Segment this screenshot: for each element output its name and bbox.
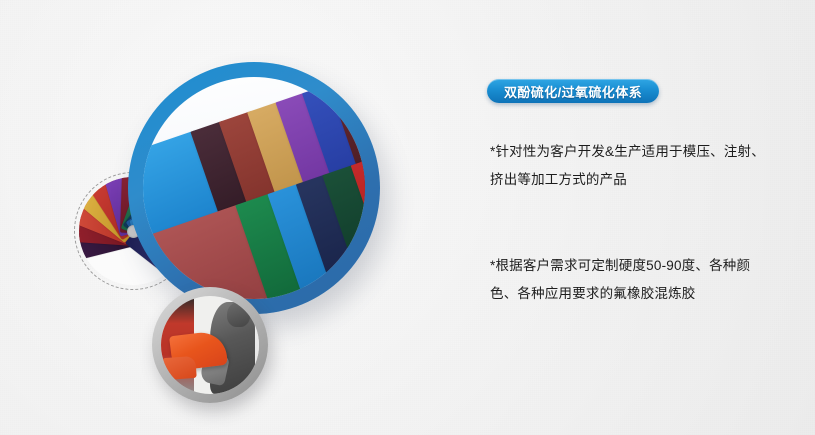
worker-head xyxy=(227,302,251,327)
paragraph-hardness: *根据客户需求可定制硬度50-90度、各种颜色、各种应用要求的氟橡胶混炼胶 xyxy=(490,252,776,308)
rubber-sheets-photo xyxy=(143,77,365,299)
paragraph-development: *针对性为客户开发&生产适用于模压、注射、挤出等加工方式的产品 xyxy=(490,138,776,194)
orange-rubber-sheet-secondary xyxy=(162,356,197,380)
worker-handling-rubber-photo xyxy=(161,296,259,394)
text-panel: 双酚硫化/过氧硫化体系 *针对性为客户开发&生产适用于模压、注射、挤出等加工方式… xyxy=(487,0,787,435)
main-product-circle xyxy=(128,62,380,314)
worker-circle xyxy=(152,287,268,403)
section-title-badge: 双酚硫化/过氧硫化体系 xyxy=(487,79,659,103)
promo-banner: 双酚硫化/过氧硫化体系 *针对性为客户开发&生产适用于模压、注射、挤出等加工方式… xyxy=(0,0,815,435)
visual-group xyxy=(0,0,470,435)
